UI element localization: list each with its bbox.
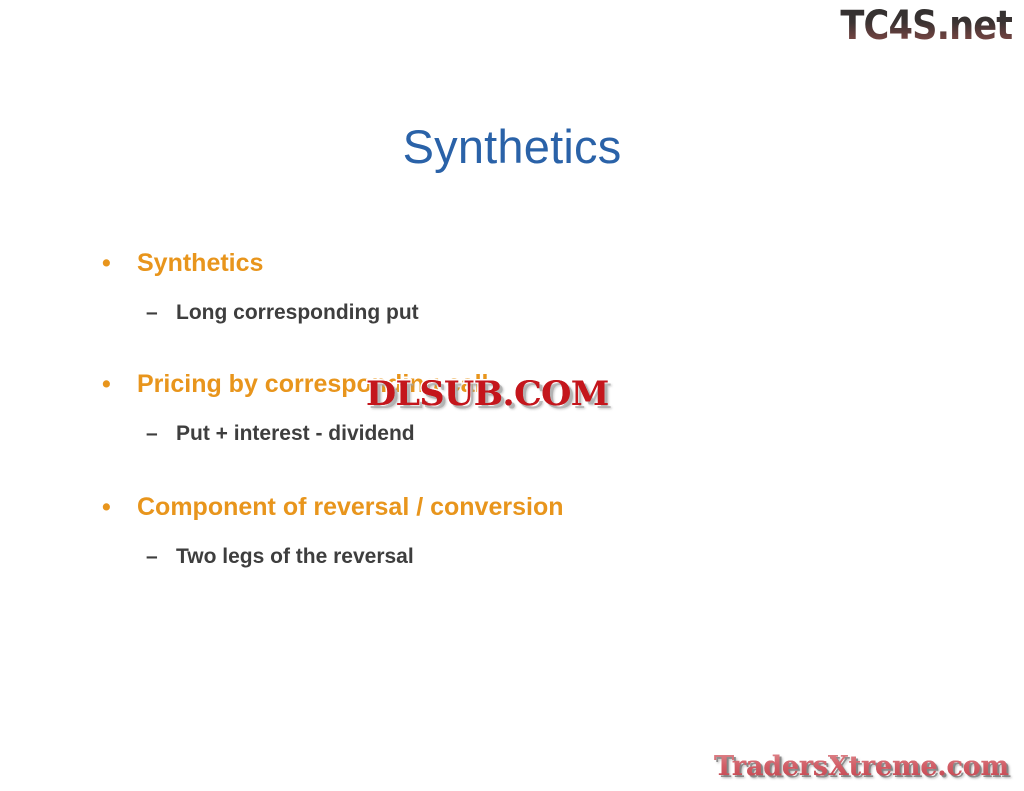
bullet-dash-icon: – [146, 300, 158, 326]
bullet-level2: – Long corresponding put [98, 300, 928, 326]
presentation-slide: TC4S.net Synthetics • Synthetics – Long … [0, 0, 1024, 791]
tradersxtreme-watermark: TradersXtreme.comTradersXtreme.com [714, 750, 1009, 784]
bullet-level1: • Component of reversal / conversion [98, 492, 928, 522]
bullet-level1: • Synthetics [98, 248, 928, 278]
tradersxtreme-watermark-fill: TradersXtreme.com [714, 750, 1009, 784]
bullet-dot-icon: • [102, 492, 111, 522]
bullet-dot-icon: • [102, 369, 111, 399]
bullet-dot-icon: • [102, 248, 111, 278]
bullet-level2: – Put + interest - dividend [98, 421, 928, 447]
slide-title: Synthetics [0, 118, 1024, 176]
bullet-level2: – Two legs of the reversal [98, 544, 928, 570]
bullet-group: • Synthetics – Long corresponding put [98, 248, 928, 326]
bullet-group: • Component of reversal / conversion – T… [98, 492, 928, 570]
tc4s-site-watermark: TC4S.net [840, 2, 1012, 50]
bullet-level2-label: Two legs of the reversal [176, 545, 414, 568]
bullet-dash-icon: – [146, 421, 158, 447]
bullet-dash-icon: – [146, 544, 158, 570]
bullet-level2-label: Long corresponding put [176, 301, 419, 324]
bullet-level1-label: Synthetics [137, 249, 263, 277]
bullet-level2-label: Put + interest - dividend [176, 422, 415, 445]
dlsub-overlay-watermark: DLSUB.COMDLSUB.COM [366, 374, 609, 414]
dlsub-overlay-watermark-fill: DLSUB.COM [366, 374, 609, 414]
bullet-level1-label: Component of reversal / conversion [137, 493, 564, 521]
